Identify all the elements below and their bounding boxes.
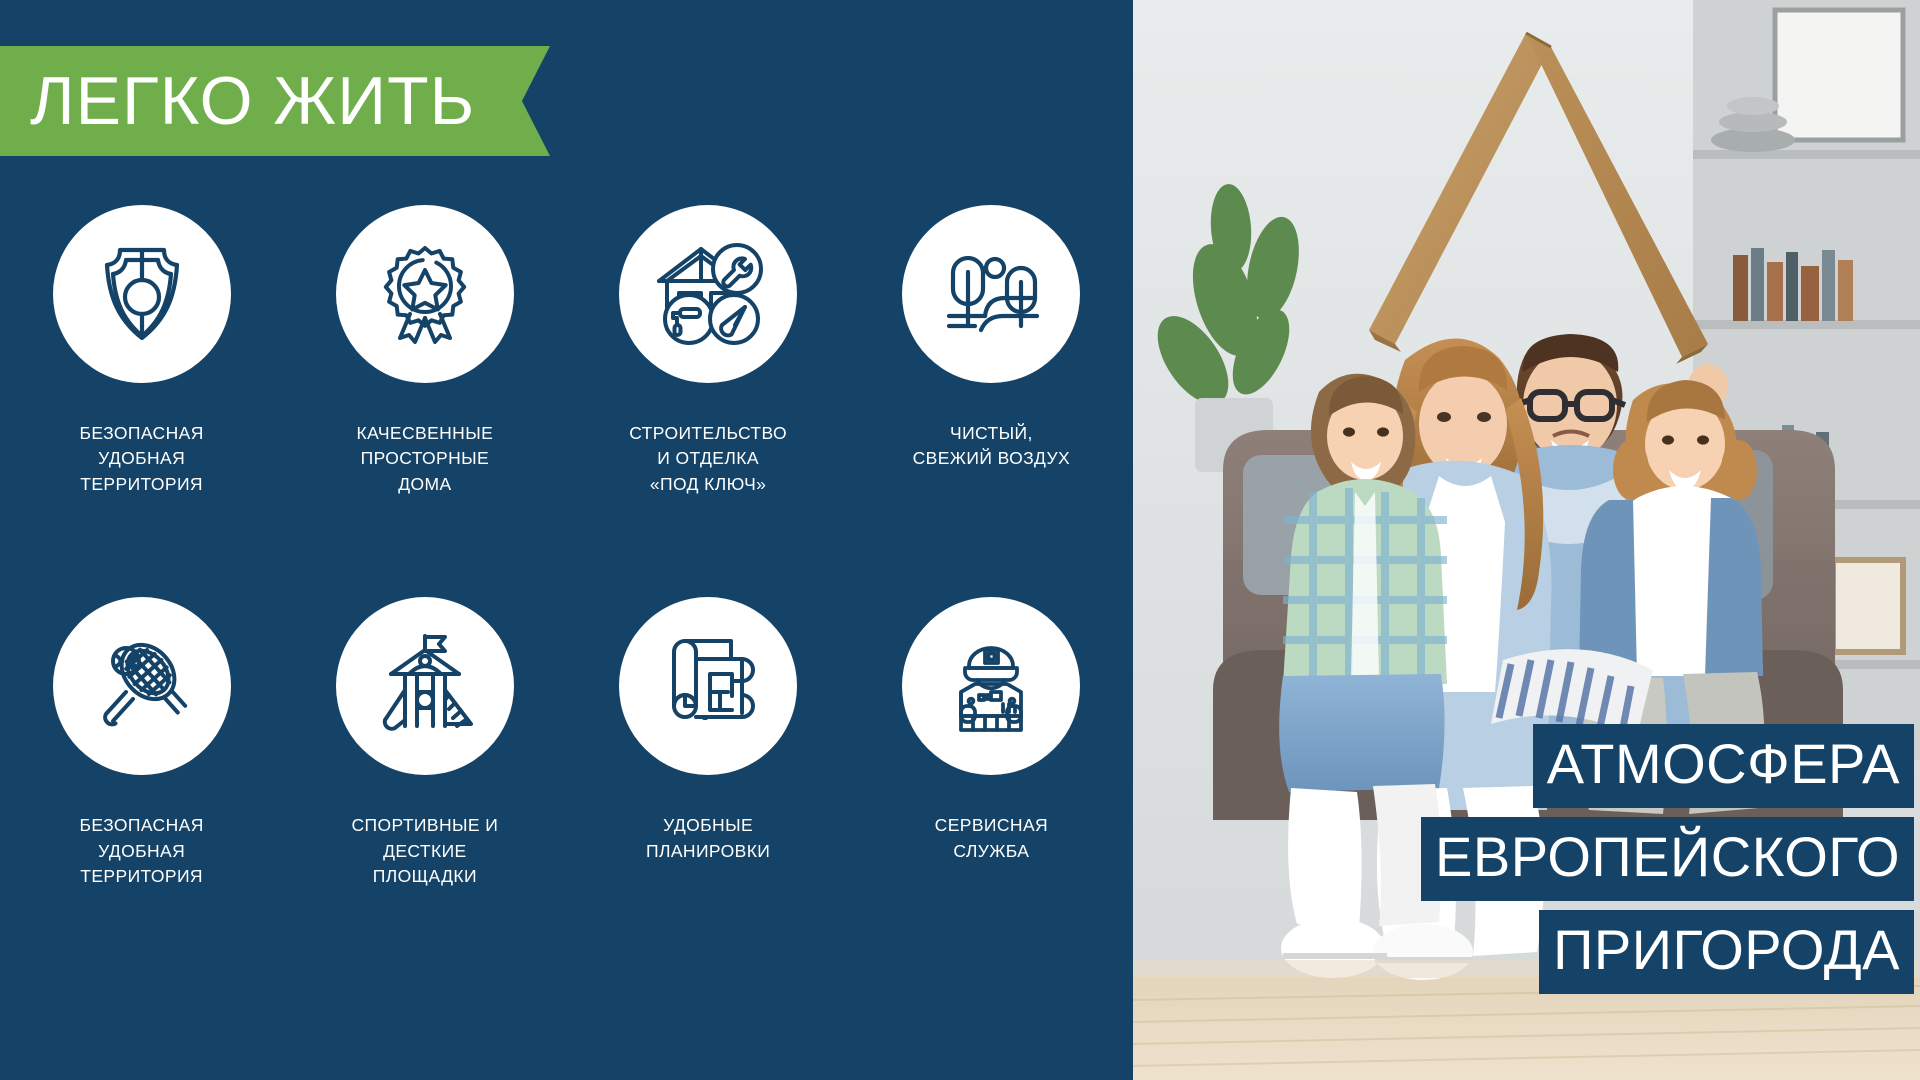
- feature-item[interactable]: СТРОИТЕЛЬСТВО И ОТДЕЛКА «ПОД КЛЮЧ»: [567, 205, 850, 497]
- feature-item[interactable]: СПОРТИВНЫЕ И ДЕСТКИЕ ПЛОЩАДКИ: [283, 597, 566, 889]
- feature-label: УДОБНЫЕ ПЛАНИРОВКИ: [646, 813, 770, 864]
- feature-label: КАЧЕСВЕННЫЕ ПРОСТОРНЫЕ ДОМА: [357, 421, 494, 497]
- trees-landscape-icon: [902, 205, 1080, 383]
- photo-headline: АТМОСФЕРА ЕВРОПЕЙСКОГО ПРИГОРОДА: [1421, 724, 1914, 994]
- feature-item[interactable]: БЕЗОПАСНАЯ УДОБНАЯ ТЕРРИТОРИЯ: [0, 597, 283, 889]
- ribbon-banner: ЛЕГКО ЖИТЬ: [0, 46, 550, 156]
- feature-grid: БЕЗОПАСНАЯ УДОБНАЯ ТЕРРИТОРИЯ КАЧЕСВЕННЫ…: [0, 205, 1133, 889]
- blueprint-scroll-icon: [619, 597, 797, 775]
- feature-label: СЕРВИСНАЯ СЛУЖБА: [935, 813, 1048, 864]
- feature-item[interactable]: ЧИСТЫЙ, СВЕЖИЙ ВОЗДУХ: [850, 205, 1133, 497]
- playground-slide-icon: [336, 597, 514, 775]
- slide-root: ЛЕГКО ЖИТЬ БЕЗОПАСНАЯ УДОБНАЯ ТЕРРИТОРИЯ: [0, 0, 1920, 1080]
- headline-line-3: ПРИГОРОДА: [1539, 910, 1914, 994]
- tennis-racket-icon: [53, 597, 231, 775]
- shield-badge-icon: [53, 205, 231, 383]
- feature-label: БЕЗОПАСНАЯ УДОБНАЯ ТЕРРИТОРИЯ: [80, 813, 204, 889]
- feature-label: ЧИСТЫЙ, СВЕЖИЙ ВОЗДУХ: [913, 421, 1070, 472]
- service-worker-icon: [902, 597, 1080, 775]
- feature-label: СПОРТИВНЫЕ И ДЕСТКИЕ ПЛОЩАДКИ: [352, 813, 499, 889]
- feature-item[interactable]: БЕЗОПАСНАЯ УДОБНАЯ ТЕРРИТОРИЯ: [0, 205, 283, 497]
- feature-item[interactable]: КАЧЕСВЕННЫЕ ПРОСТОРНЫЕ ДОМА: [283, 205, 566, 497]
- family-photo: АТМОСФЕРА ЕВРОПЕЙСКОГО ПРИГОРОДА: [1133, 0, 1920, 1080]
- headline-line-2: ЕВРОПЕЙСКОГО: [1421, 817, 1914, 901]
- award-rosette-icon: [336, 205, 514, 383]
- house-tools-icon: [619, 205, 797, 383]
- feature-label: СТРОИТЕЛЬСТВО И ОТДЕЛКА «ПОД КЛЮЧ»: [629, 421, 787, 497]
- ribbon-title: ЛЕГКО ЖИТЬ: [0, 67, 475, 135]
- feature-label: БЕЗОПАСНАЯ УДОБНАЯ ТЕРРИТОРИЯ: [80, 421, 204, 497]
- headline-line-1: АТМОСФЕРА: [1533, 724, 1914, 808]
- feature-item[interactable]: СЕРВИСНАЯ СЛУЖБА: [850, 597, 1133, 889]
- feature-item[interactable]: УДОБНЫЕ ПЛАНИРОВКИ: [567, 597, 850, 889]
